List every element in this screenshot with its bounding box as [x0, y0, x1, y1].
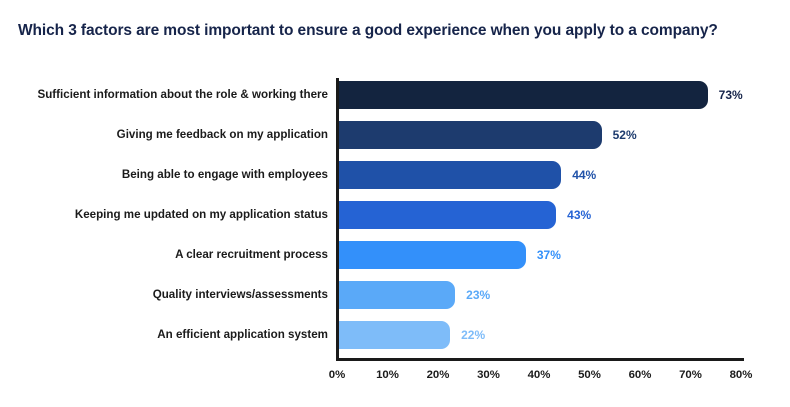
x-tick-label: 10%	[376, 369, 399, 381]
x-tick-label: 60%	[629, 369, 652, 381]
bar-fill	[339, 121, 602, 149]
bar[interactable]	[339, 121, 602, 149]
bar-value-label: 23%	[466, 281, 490, 309]
bar-fill	[339, 161, 561, 189]
bar-row: A clear recruitment process37%	[0, 235, 790, 275]
bar-fill	[339, 321, 450, 349]
bar[interactable]	[339, 161, 561, 189]
bar-row: Keeping me updated on my application sta…	[0, 195, 790, 235]
bar-row: Sufficient information about the role & …	[0, 75, 790, 115]
x-tick-label: 80%	[730, 369, 753, 381]
bar[interactable]	[339, 241, 526, 269]
bar-value-label: 44%	[572, 161, 596, 189]
category-label: Quality interviews/assessments	[153, 275, 328, 315]
category-label: Sufficient information about the role & …	[37, 75, 328, 115]
y-axis-line	[336, 78, 339, 360]
bar[interactable]	[339, 201, 556, 229]
bar-row: Quality interviews/assessments23%	[0, 275, 790, 315]
category-label: Giving me feedback on my application	[117, 115, 328, 155]
bar[interactable]	[339, 81, 708, 109]
plot-area: Sufficient information about the role & …	[0, 0, 790, 407]
bar-value-label: 37%	[537, 241, 561, 269]
bar-row: Giving me feedback on my application52%	[0, 115, 790, 155]
bar-row: An efficient application system22%	[0, 315, 790, 355]
bar[interactable]	[339, 321, 450, 349]
x-tick-label: 20%	[427, 369, 450, 381]
bar-fill	[339, 201, 556, 229]
x-tick-label: 30%	[477, 369, 500, 381]
x-tick-label: 40%	[528, 369, 551, 381]
category-label: An efficient application system	[157, 315, 328, 355]
bar-value-label: 52%	[613, 121, 637, 149]
bar-row: Being able to engage with employees44%	[0, 155, 790, 195]
category-label: Keeping me updated on my application sta…	[75, 195, 328, 235]
bar[interactable]	[339, 281, 455, 309]
category-label: A clear recruitment process	[175, 235, 328, 275]
bar-value-label: 43%	[567, 201, 591, 229]
bar-fill	[339, 241, 526, 269]
bar-value-label: 22%	[461, 321, 485, 349]
bar-fill	[339, 81, 708, 109]
x-tick-label: 50%	[578, 369, 601, 381]
bar-fill	[339, 281, 455, 309]
bar-value-label: 73%	[719, 81, 743, 109]
x-axis-line	[336, 358, 744, 361]
x-tick-label: 0%	[329, 369, 345, 381]
x-tick-label: 70%	[679, 369, 702, 381]
bar-chart: Which 3 factors are most important to en…	[0, 0, 790, 407]
category-label: Being able to engage with employees	[122, 155, 328, 195]
